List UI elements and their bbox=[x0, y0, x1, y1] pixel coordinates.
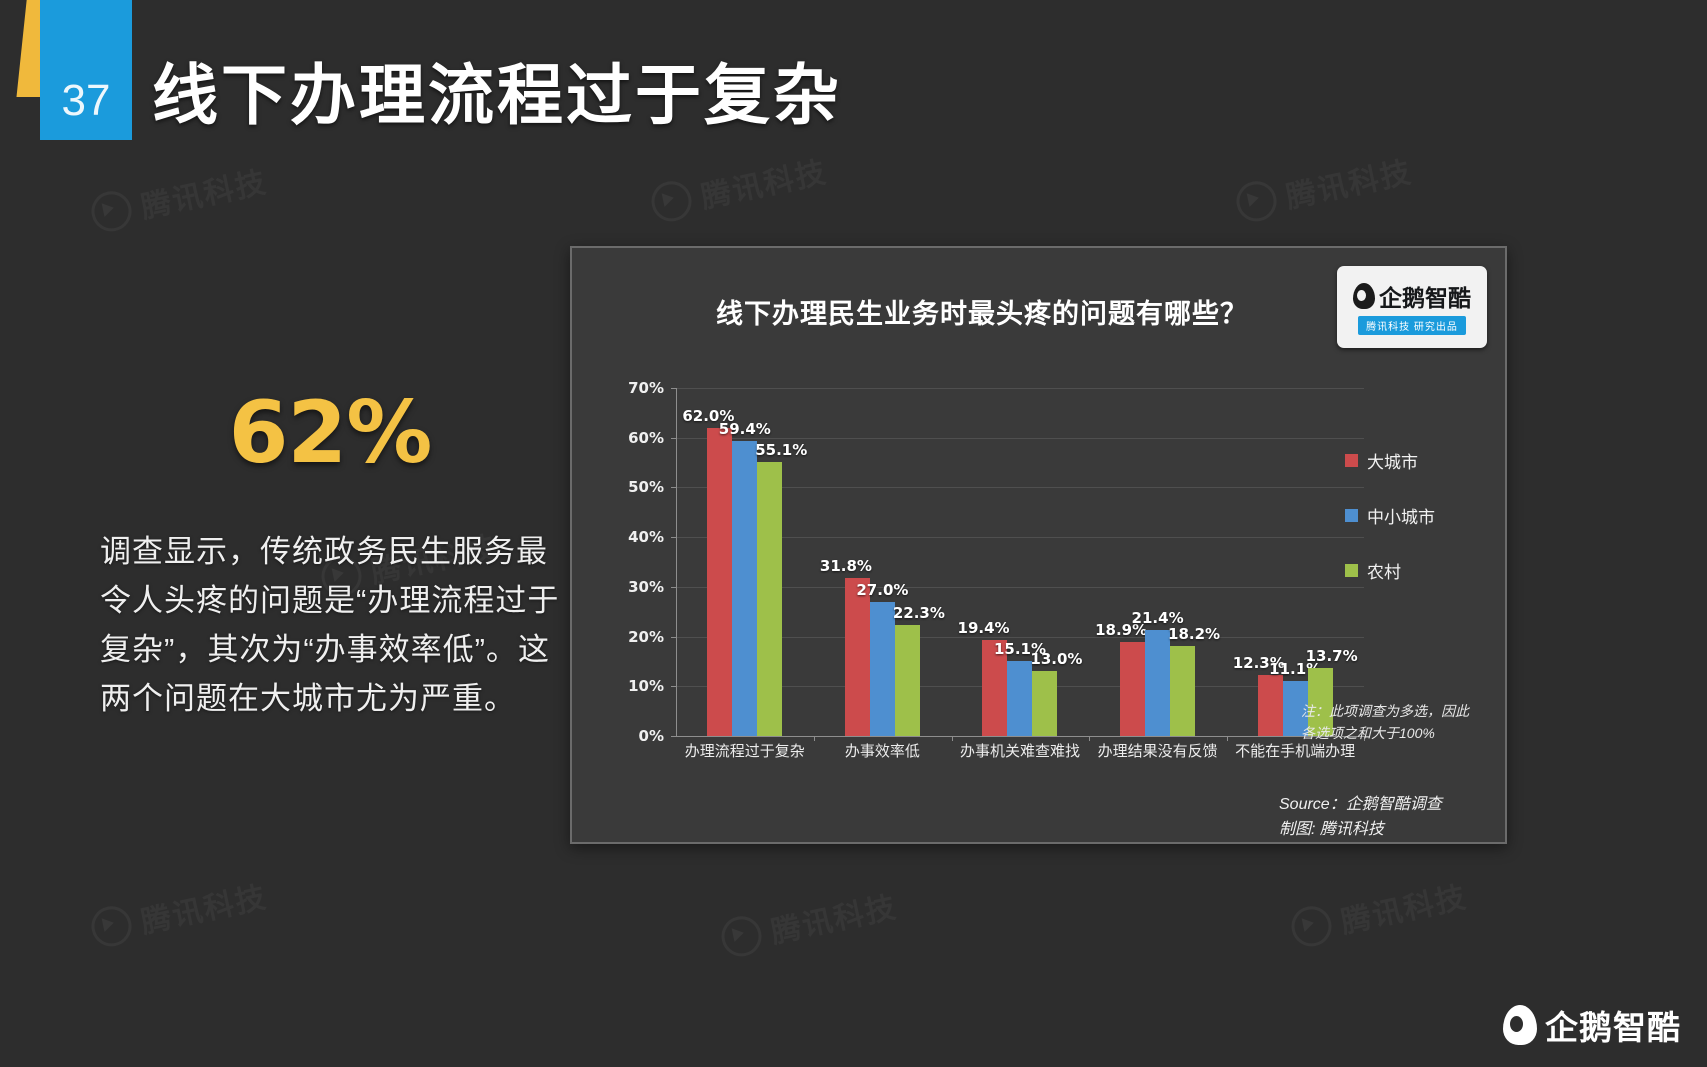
bar-value-label: 18.2% bbox=[1168, 625, 1220, 643]
page-number: 37 bbox=[40, 0, 132, 140]
watermark: 腾讯科技 bbox=[1287, 872, 1470, 952]
bar[interactable]: 18.2% bbox=[1170, 646, 1195, 736]
bar-groups: 62.0%59.4%55.1%31.8%27.0%22.3%19.4%15.1%… bbox=[676, 388, 1364, 736]
highlight-stat: 62% bbox=[100, 390, 560, 476]
bar-value-label: 55.1% bbox=[755, 441, 807, 459]
y-axis-tick-label: 60% bbox=[628, 429, 664, 447]
penguin-icon bbox=[1503, 1005, 1537, 1045]
legend-item[interactable]: 农村 bbox=[1345, 558, 1475, 583]
y-axis-tick bbox=[671, 736, 677, 737]
x-axis-category-label: 办事效率低 bbox=[814, 740, 952, 761]
legend-swatch bbox=[1345, 509, 1358, 522]
brand-badge: 企鹅智酷 腾讯科技 研究出品 bbox=[1337, 266, 1487, 348]
chart-legend: 大城市中小城市农村 bbox=[1345, 448, 1475, 613]
y-axis-tick-label: 50% bbox=[628, 478, 664, 496]
y-axis-tick-label: 40% bbox=[628, 528, 664, 546]
bar[interactable]: 62.0% bbox=[707, 428, 732, 736]
watermark: 腾讯科技 bbox=[717, 882, 900, 962]
bar-value-label: 13.0% bbox=[1030, 650, 1082, 668]
legend-label: 大城市 bbox=[1367, 448, 1418, 473]
chart-panel: 线下办理民生业务时最头疼的问题有哪些？ 企鹅智酷 腾讯科技 研究出品 0%10%… bbox=[570, 246, 1507, 844]
legend-item[interactable]: 大城市 bbox=[1345, 448, 1475, 473]
watermark-text: 腾讯科技 bbox=[1336, 872, 1470, 942]
bar-group: 31.8%27.0%22.3% bbox=[814, 388, 952, 736]
x-axis-labels: 办理流程过于复杂办事效率低办事机关难查难找办理结果没有反馈不能在手机端办理 bbox=[676, 740, 1364, 761]
watermark-text: 腾讯科技 bbox=[136, 872, 270, 942]
bar[interactable]: 21.4% bbox=[1145, 630, 1170, 736]
bar[interactable]: 55.1% bbox=[757, 462, 782, 736]
bar[interactable]: 18.9% bbox=[1120, 642, 1145, 736]
bar-value-label: 13.7% bbox=[1306, 647, 1358, 665]
slide: 腾讯科技 腾讯科技 腾讯科技 腾讯科技 腾讯科技 腾讯科技 腾讯科技 腾讯科技 bbox=[0, 0, 1707, 1067]
plot-area: 0%10%20%30%40%50%60%70% 62.0%59.4%55.1%3… bbox=[624, 388, 1364, 778]
chart-title: 线下办理民生业务时最头疼的问题有哪些？ bbox=[642, 292, 1322, 331]
watermark: 腾讯科技 bbox=[87, 872, 270, 952]
play-icon bbox=[1288, 903, 1335, 950]
body-paragraph: 调查显示，传统政务民生服务最令人头疼的问题是“办理流程过于复杂”，其次为“办事效… bbox=[100, 528, 560, 724]
legend-swatch bbox=[1345, 564, 1358, 577]
bar[interactable]: 15.1% bbox=[1007, 661, 1032, 736]
brand-name: 企鹅智酷 bbox=[1379, 279, 1471, 313]
bar-group: 18.9%21.4%18.2% bbox=[1089, 388, 1227, 736]
legend-label: 农村 bbox=[1367, 558, 1401, 583]
play-icon bbox=[88, 188, 135, 235]
y-axis-tick-label: 0% bbox=[639, 727, 664, 745]
chart-note: 注：此项调查为多选，因此各选项之和大于100% bbox=[1301, 700, 1479, 745]
penguin-icon bbox=[1353, 283, 1375, 309]
brand-subtitle: 腾讯科技 研究出品 bbox=[1358, 316, 1466, 335]
footer-logo-text: 企鹅智酷 bbox=[1545, 1001, 1681, 1049]
y-axis-tick-label: 20% bbox=[628, 628, 664, 646]
play-icon bbox=[1233, 178, 1280, 225]
y-axis-tick-label: 30% bbox=[628, 578, 664, 596]
legend-swatch bbox=[1345, 454, 1358, 467]
watermark-text: 腾讯科技 bbox=[136, 157, 270, 227]
bar-group: 62.0%59.4%55.1% bbox=[676, 388, 814, 736]
play-icon bbox=[648, 178, 695, 225]
chart-source: Source：企鹅智酷调查 制图: 腾讯科技 bbox=[1279, 793, 1479, 843]
bar[interactable]: 59.4% bbox=[732, 441, 757, 736]
footer-logo: 企鹅智酷 bbox=[1503, 1001, 1681, 1049]
bar-value-label: 27.0% bbox=[856, 581, 908, 599]
bar[interactable]: 12.3% bbox=[1258, 675, 1283, 736]
bar[interactable]: 31.8% bbox=[845, 578, 870, 736]
credit-line: 制图: 腾讯科技 bbox=[1279, 818, 1479, 843]
x-axis-category-label: 办理结果没有反馈 bbox=[1089, 740, 1227, 761]
bar-value-label: 31.8% bbox=[820, 557, 872, 575]
watermark: 腾讯科技 bbox=[87, 157, 270, 237]
bar-value-label: 19.4% bbox=[958, 619, 1010, 637]
page-title: 线下办理流程过于复杂 bbox=[152, 42, 842, 138]
y-axis-tick-label: 70% bbox=[628, 379, 664, 397]
left-column: 62% 调查显示，传统政务民生服务最令人头疼的问题是“办理流程过于复杂”，其次为… bbox=[100, 390, 560, 724]
legend-label: 中小城市 bbox=[1367, 503, 1435, 528]
play-icon bbox=[718, 913, 765, 960]
legend-item[interactable]: 中小城市 bbox=[1345, 503, 1475, 528]
y-axis-labels: 0%10%20%30%40%50%60%70% bbox=[624, 388, 670, 736]
bar-value-label: 22.3% bbox=[893, 604, 945, 622]
bar[interactable]: 27.0% bbox=[870, 602, 895, 736]
x-axis-category-label: 办事机关难查难找 bbox=[951, 740, 1089, 761]
play-icon bbox=[88, 903, 135, 950]
bar-group: 19.4%15.1%13.0% bbox=[951, 388, 1089, 736]
x-axis-category-label: 办理流程过于复杂 bbox=[676, 740, 814, 761]
bar-group: 12.3%11.1%13.7% bbox=[1226, 388, 1364, 736]
source-line: Source：企鹅智酷调查 bbox=[1279, 793, 1479, 818]
bar[interactable]: 22.3% bbox=[895, 625, 920, 736]
bar-value-label: 59.4% bbox=[719, 420, 771, 438]
watermark-text: 腾讯科技 bbox=[766, 882, 900, 952]
bar[interactable]: 13.0% bbox=[1032, 671, 1057, 736]
slide-header: 37 线下办理流程过于复杂 bbox=[0, 0, 1707, 160]
y-axis-tick-label: 10% bbox=[628, 677, 664, 695]
